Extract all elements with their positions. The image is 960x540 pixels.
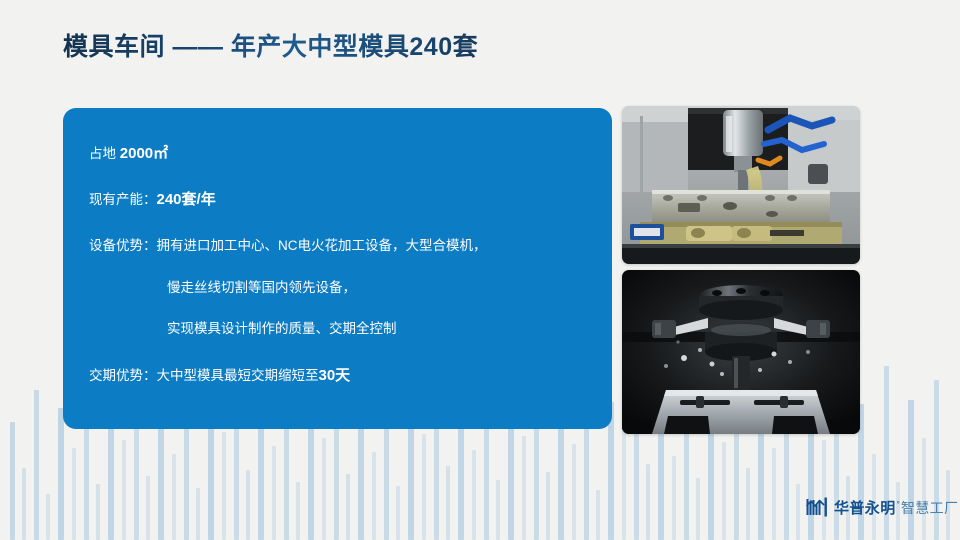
decorative-bar [572, 444, 576, 540]
decorative-bar [722, 442, 726, 540]
capacity-label: 现有产能： [89, 192, 157, 207]
decorative-bar [758, 418, 764, 540]
info-panel: 占地 2000㎡ 现有产能：240套/年 设备优势：拥有进口加工中心、NC电火花… [63, 108, 612, 429]
decorative-bar [696, 478, 700, 540]
decorative-bar [496, 480, 500, 540]
lead-time-label: 交期优势：大中型模具最短交期缩短至 [89, 368, 319, 383]
decorative-bar [396, 486, 400, 540]
slide-canvas: 模具车间 —— 年产大中型模具240套 占地 2000㎡ 现有产能：240套/年… [0, 0, 960, 540]
decorative-bar [672, 456, 676, 540]
panel-line-equipment-cont-2: 实现模具设计制作的质量、交期全控制 [89, 322, 586, 336]
decorative-bar [96, 484, 100, 540]
page-title: 模具车间 —— 年产大中型模具240套 [63, 27, 478, 63]
decorative-bar [796, 484, 800, 540]
panel-line-capacity: 现有产能：240套/年 [89, 192, 586, 207]
decorative-bar [158, 414, 164, 540]
decorative-bar [458, 410, 464, 540]
equipment-label: 设备优势：拥有进口加工中心、NC电火花加工设备，大型合模机， [89, 238, 487, 253]
decorative-bar [10, 422, 15, 540]
decorative-bar [372, 452, 376, 540]
logo-tagline: 智慧工厂 [901, 498, 959, 518]
panel-line-lead-time: 交期优势：大中型模具最短交期缩短至30天 [89, 368, 586, 383]
photo-cnc-milling-art [622, 106, 860, 264]
decorative-bar [546, 472, 550, 540]
area-label: 占地 [89, 146, 120, 161]
decorative-bar [72, 448, 76, 540]
decorative-bar [358, 412, 364, 540]
area-value: 2000㎡ [120, 145, 168, 162]
decorative-bar [558, 416, 564, 540]
decorative-bar [172, 454, 176, 540]
decorative-bar [46, 494, 50, 540]
logo-brand-name: 华普永明 [834, 497, 896, 518]
brand-logo: 华普永明°智慧工厂 [806, 494, 958, 520]
photo-cnc-milling [622, 106, 860, 264]
decorative-bar [772, 448, 776, 540]
decorative-bar [322, 438, 326, 540]
decorative-bar [346, 474, 350, 540]
decorative-bar [122, 440, 126, 540]
logo-registered-mark: ° [897, 500, 900, 509]
logo-text: 华普永明°智慧工厂 [834, 497, 958, 518]
decorative-bar [272, 446, 276, 540]
decorative-bar [746, 468, 750, 540]
decorative-bar [522, 436, 526, 540]
decorative-bar [22, 468, 26, 540]
decorative-bar [596, 490, 600, 540]
decorative-bar [34, 390, 39, 540]
photo-cnc-drilling-art [622, 270, 860, 434]
decorative-bar [822, 440, 826, 540]
decorative-bar [296, 482, 300, 540]
decorative-bar [622, 430, 626, 540]
decorative-bar [146, 476, 150, 540]
panel-line-equipment-cont-1: 慢走丝线切割等国内领先设备， [89, 281, 586, 295]
decorative-bar [422, 434, 426, 540]
decorative-bar [196, 488, 200, 540]
decorative-bar [922, 438, 926, 540]
lead-time-value: 30天 [319, 367, 351, 384]
decorative-bar [472, 450, 476, 540]
photo-cnc-drilling [622, 270, 860, 434]
decorative-bar [246, 470, 250, 540]
page-title-wrap: 模具车间 —— 年产大中型模具240套 [63, 28, 478, 62]
decorative-bar [446, 466, 450, 540]
equipment-cont-2-label: 实现模具设计制作的质量、交期全控制 [167, 321, 397, 336]
capacity-value: 240套/年 [157, 191, 216, 208]
panel-line-area: 占地 2000㎡ [89, 146, 586, 161]
decorative-bar [646, 464, 650, 540]
decorative-bar [222, 432, 226, 540]
decorative-bar [58, 408, 64, 540]
equipment-cont-1-label: 慢走丝线切割等国内领先设备， [167, 280, 356, 295]
panel-line-equipment: 设备优势：拥有进口加工中心、NC电火花加工设备，大型合模机， [89, 239, 586, 253]
huapu-logo-icon [806, 497, 828, 517]
